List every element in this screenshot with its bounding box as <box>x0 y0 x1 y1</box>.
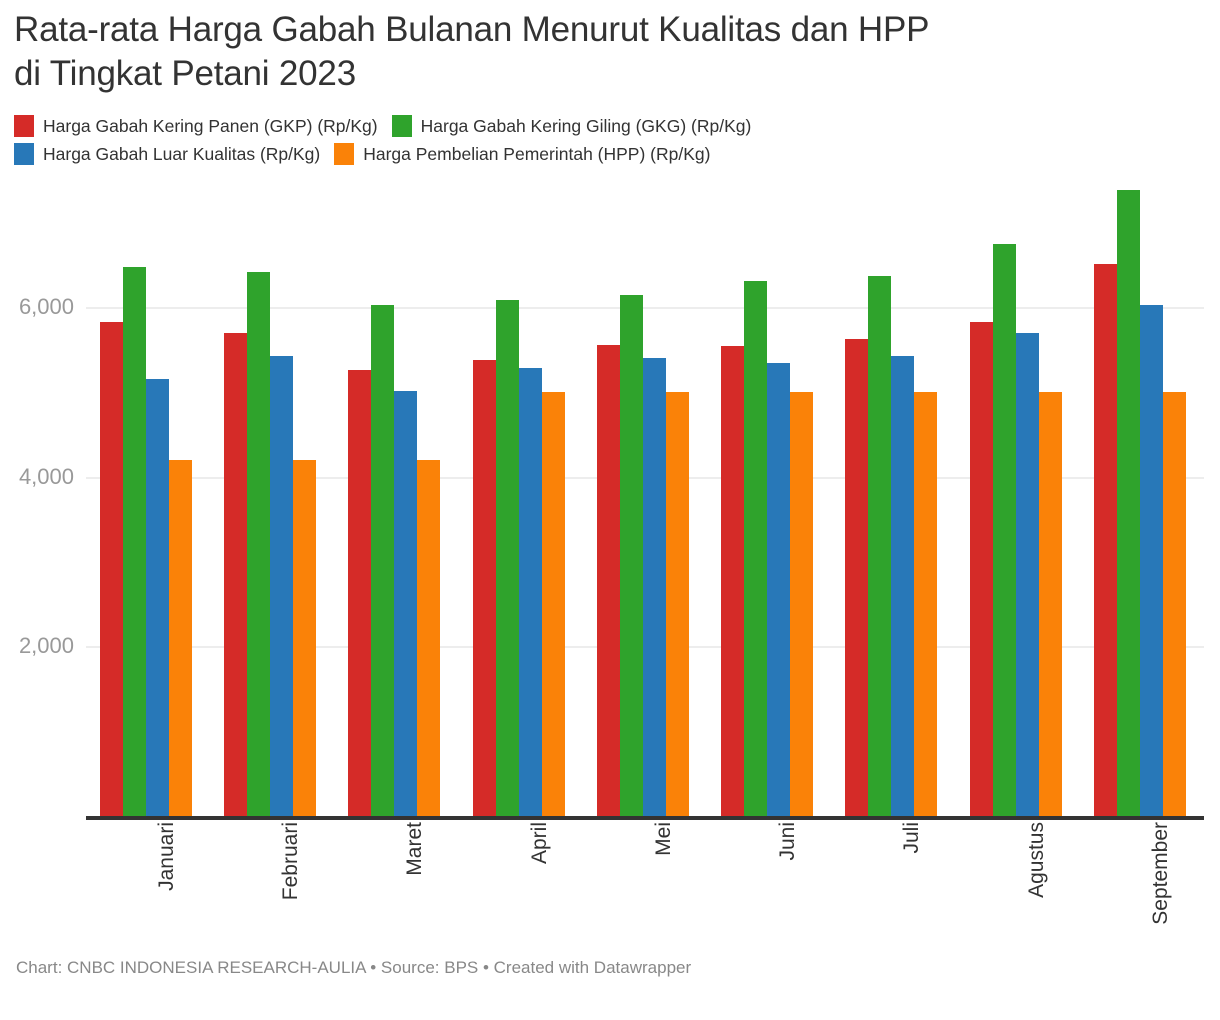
bar[interactable] <box>767 363 790 816</box>
bar-group <box>970 180 1062 816</box>
x-axis-label-februari: Februari <box>279 822 303 962</box>
bar-group <box>100 180 192 816</box>
bar-group <box>1094 180 1186 816</box>
x-axis-label-juli: Juli <box>900 822 924 962</box>
x-axis-label-mei: Mei <box>652 822 676 962</box>
bar-group <box>348 180 440 816</box>
bar[interactable] <box>473 360 496 816</box>
bar[interactable] <box>247 272 270 816</box>
x-axis-label-agustus: Agustus <box>1025 822 1049 962</box>
bar[interactable] <box>146 379 169 816</box>
y-axis-tick-label-4000: 4,000 <box>0 464 74 490</box>
legend-swatch-hpp <box>334 143 354 165</box>
bar[interactable] <box>914 392 937 816</box>
bar[interactable] <box>993 244 1016 816</box>
bar[interactable] <box>123 267 146 817</box>
bar[interactable] <box>1016 333 1039 816</box>
chart-footer-credit: Chart: CNBC INDONESIA RESEARCH-AULIA • S… <box>16 958 691 978</box>
legend-swatch-luar-kualitas <box>14 143 34 165</box>
bar-group <box>473 180 565 816</box>
bar-group <box>597 180 689 816</box>
chart-legend: Harga Gabah Kering Panen (GKP) (Rp/Kg) H… <box>14 112 1204 168</box>
legend-item-gkp[interactable]: Harga Gabah Kering Panen (GKP) (Rp/Kg) <box>14 112 378 140</box>
bar[interactable] <box>868 276 891 816</box>
bar-group <box>721 180 813 816</box>
bar[interactable] <box>169 460 192 816</box>
bar[interactable] <box>1163 392 1186 816</box>
x-axis-label-september: September <box>1149 822 1173 962</box>
bar[interactable] <box>721 346 744 816</box>
bar[interactable] <box>224 333 247 816</box>
legend-row-1: Harga Gabah Kering Panen (GKP) (Rp/Kg) H… <box>14 112 1204 140</box>
bar[interactable] <box>100 322 123 816</box>
bar[interactable] <box>1094 264 1117 816</box>
gridline-6000 <box>86 307 1204 309</box>
x-axis-labels: JanuariFebruariMaretAprilMeiJuniJuliAgus… <box>86 822 1204 942</box>
x-axis-label-januari: Januari <box>155 822 179 962</box>
bar[interactable] <box>496 300 519 816</box>
bar[interactable] <box>394 391 417 816</box>
legend-item-hpp[interactable]: Harga Pembelian Pemerintah (HPP) (Rp/Kg) <box>334 140 710 168</box>
gridline-2000 <box>86 646 1204 648</box>
bar[interactable] <box>643 358 666 816</box>
x-axis-label-juni: Juni <box>776 822 800 962</box>
legend-label-luar-kualitas: Harga Gabah Luar Kualitas (Rp/Kg) <box>43 143 320 165</box>
legend-label-hpp: Harga Pembelian Pemerintah (HPP) (Rp/Kg) <box>363 143 710 165</box>
y-axis-tick-label-6000: 6,000 <box>0 294 74 320</box>
bar[interactable] <box>597 345 620 816</box>
bar[interactable] <box>1039 392 1062 816</box>
chart-container: Rata-rata Harga Gabah Bulanan Menurut Ku… <box>0 0 1220 1020</box>
bar[interactable] <box>371 305 394 816</box>
bar[interactable] <box>620 295 643 816</box>
x-axis-line <box>86 816 1204 820</box>
bar[interactable] <box>417 460 440 816</box>
plot-inner: 2,0004,0006,000 <box>86 180 1204 816</box>
bar[interactable] <box>542 392 565 816</box>
y-axis-tick-label-2000: 2,000 <box>0 633 74 659</box>
bar[interactable] <box>845 339 868 816</box>
legend-item-gkg[interactable]: Harga Gabah Kering Giling (GKG) (Rp/Kg) <box>392 112 752 140</box>
legend-swatch-gkp <box>14 115 34 137</box>
chart-title: Rata-rata Harga Gabah Bulanan Menurut Ku… <box>14 8 1204 96</box>
bar[interactable] <box>519 368 542 816</box>
chart-title-line-1: Rata-rata Harga Gabah Bulanan Menurut Ku… <box>14 10 929 49</box>
legend-row-2: Harga Gabah Luar Kualitas (Rp/Kg) Harga … <box>14 140 1204 168</box>
chart-title-line-2: di Tingkat Petani 2023 <box>14 54 356 93</box>
bar[interactable] <box>666 392 689 816</box>
legend-item-luar-kualitas[interactable]: Harga Gabah Luar Kualitas (Rp/Kg) <box>14 140 320 168</box>
bar-group <box>845 180 937 816</box>
bar[interactable] <box>744 281 767 816</box>
bar[interactable] <box>1140 305 1163 816</box>
x-axis-label-april: April <box>528 822 552 962</box>
legend-label-gkg: Harga Gabah Kering Giling (GKG) (Rp/Kg) <box>421 115 752 137</box>
bar[interactable] <box>790 392 813 816</box>
bar[interactable] <box>348 370 371 816</box>
bar[interactable] <box>891 356 914 816</box>
bar[interactable] <box>970 322 993 816</box>
gridline-4000 <box>86 477 1204 479</box>
bar[interactable] <box>270 356 293 816</box>
bar[interactable] <box>1117 190 1140 816</box>
bar-group <box>224 180 316 816</box>
x-axis-label-maret: Maret <box>403 822 427 962</box>
legend-swatch-gkg <box>392 115 412 137</box>
legend-label-gkp: Harga Gabah Kering Panen (GKP) (Rp/Kg) <box>43 115 378 137</box>
bar-groups <box>86 180 1204 816</box>
bar[interactable] <box>293 460 316 816</box>
